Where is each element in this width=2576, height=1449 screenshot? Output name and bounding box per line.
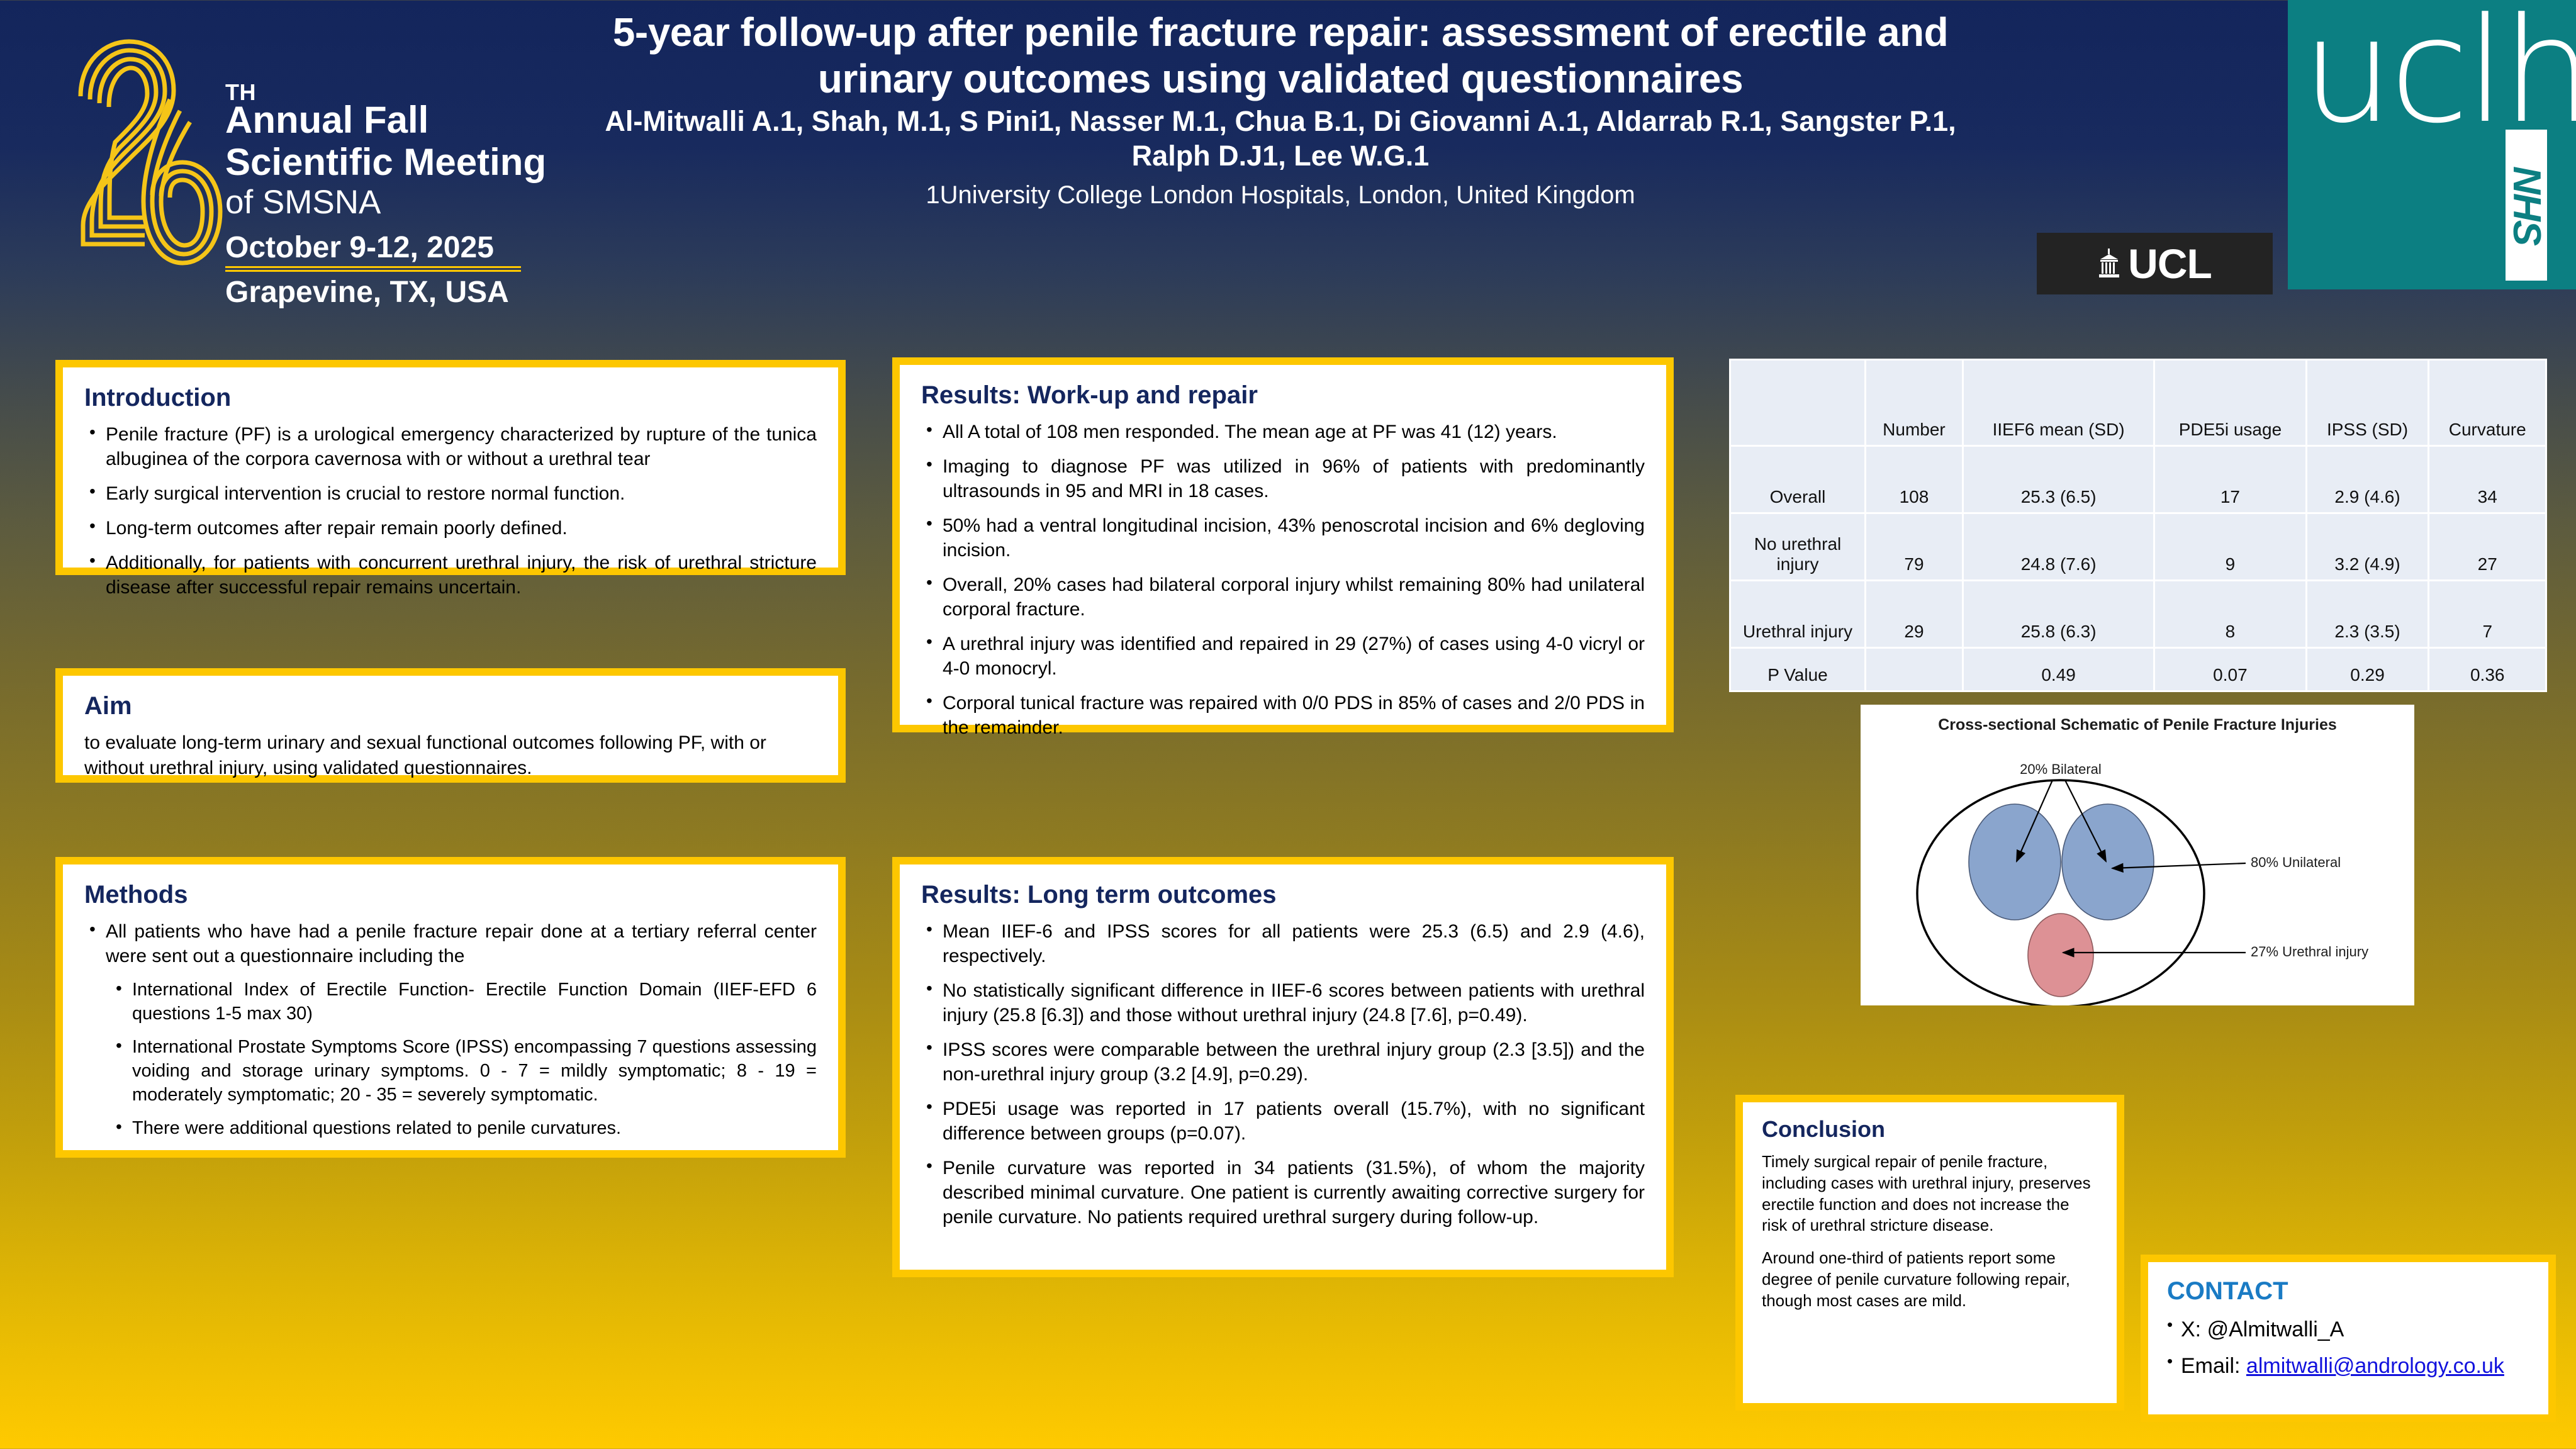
table-cell: 24.8 (7.6): [1963, 513, 2154, 581]
table-cell: 0.49: [1963, 648, 2154, 691]
table-row-label: No urethral injury: [1730, 513, 1866, 581]
table-row: Overall 108 25.3 (6.5) 17 2.9 (4.6) 34: [1730, 446, 2546, 513]
poster-header: TH Annual Fall Scientific Meeting of SMS…: [0, 0, 2576, 330]
introduction-heading: Introduction: [84, 384, 817, 412]
contact-panel: CONTACT X: @Almitwalli_A Email: almitwal…: [2141, 1255, 2556, 1422]
table-cell: 25.8 (6.3): [1963, 581, 2154, 648]
methods-panel: Methods All patients who have had a peni…: [55, 857, 846, 1158]
list-item: Early surgical intervention is crucial t…: [84, 481, 817, 506]
smsna-line-annual-fall: Annual Fall: [225, 98, 428, 142]
table-cell: 0.29: [2306, 648, 2429, 691]
table-row: P Value 0.49 0.07 0.29 0.36: [1730, 648, 2546, 691]
table-header-cell: IPSS (SD): [2306, 360, 2429, 446]
contact-email-row: Email: almitwalli@andrology.co.uk: [2167, 1352, 2529, 1380]
table-header-row: Number IIEF6 mean (SD) PDE5i usage IPSS …: [1730, 360, 2546, 446]
introduction-panel: Introduction Penile fracture (PF) is a u…: [55, 360, 846, 575]
contact-heading: CONTACT: [2167, 1277, 2529, 1306]
smsna-rule-lines: [225, 266, 521, 274]
table-cell: [1866, 648, 1963, 691]
table-row-label: Overall: [1730, 446, 1866, 513]
list-item: PDE5i usage was reported in 17 patients …: [921, 1097, 1645, 1146]
table-cell: 108: [1866, 446, 1963, 513]
table-cell: 27: [2429, 513, 2546, 581]
table-cell: 79: [1866, 513, 1963, 581]
conclusion-heading: Conclusion: [1762, 1116, 2098, 1143]
table-cell: 29: [1866, 581, 1963, 648]
table-cell: 0.07: [2154, 648, 2306, 691]
smsna-conference-logo: TH Annual Fall Scientific Meeting of SMS…: [69, 30, 547, 301]
list-item: Mean IIEF-6 and IPSS scores for all pati…: [921, 919, 1645, 968]
table-cell: 25.3 (6.5): [1963, 446, 2154, 513]
table-cell: 0.36: [2429, 648, 2546, 691]
methods-bullet-list: All patients who have had a penile fract…: [84, 919, 817, 1141]
table-header-cell: PDE5i usage: [2154, 360, 2306, 446]
penile-cross-section-diagram: 20% Bilateral 80% Unilateral 27% Urethra…: [1861, 705, 2414, 1005]
list-item: IPSS scores were comparable between the …: [921, 1038, 1645, 1087]
list-item: Long-term outcomes after repair remain p…: [84, 516, 817, 540]
list-item: International Prostate Symptoms Score (I…: [111, 1036, 817, 1107]
results-summary-table: Number IIEF6 mean (SD) PDE5i usage IPSS …: [1729, 359, 2547, 692]
ucl-crest-icon: [2098, 249, 2120, 279]
conclusion-paragraph-2: Around one-third of patients report some…: [1762, 1248, 2098, 1311]
list-item: Penile curvature was reported in 34 pati…: [921, 1156, 1645, 1229]
list-item: A urethral injury was identified and rep…: [921, 632, 1645, 681]
table-header-cell: [1730, 360, 1866, 446]
uclh-logo: uclh NHS: [2288, 0, 2576, 289]
list-item: Imaging to diagnose PF was utilized in 9…: [921, 454, 1645, 503]
conference-dates: October 9-12, 2025: [225, 230, 521, 265]
results-workup-panel: Results: Work-up and repair All A total …: [892, 357, 1674, 732]
contact-list: X: @Almitwalli_A Email: almitwalli@andro…: [2167, 1316, 2529, 1380]
affiliation-line: 1University College London Hospitals, Lo…: [579, 181, 1982, 210]
list-item: All patients who have had a penile fract…: [84, 919, 817, 968]
nhs-logo: NHS: [2506, 130, 2547, 281]
nhs-wordmark: NHS: [2504, 166, 2549, 245]
smsna-line-scientific-meeting: Scientific Meeting: [225, 140, 546, 184]
table-cell: 7: [2429, 581, 2546, 648]
author-list: Al-Mitwalli A.1, Shah, M.1, S Pini1, Nas…: [579, 104, 1982, 174]
list-item: Additionally, for patients with concurre…: [84, 551, 817, 600]
list-item: No statistically significant difference …: [921, 978, 1645, 1027]
cross-section-diagram-card: Cross-sectional Schematic of Penile Frac…: [1861, 705, 2414, 1005]
table-header-cell: IIEF6 mean (SD): [1963, 360, 2154, 446]
conference-location: Grapevine, TX, USA: [225, 275, 521, 310]
table-row-label: Urethral injury: [1730, 581, 1866, 648]
title-block: 5-year follow-up after penile fracture r…: [579, 9, 1982, 210]
ucl-wordmark: UCL: [2128, 240, 2212, 288]
table-cell: 34: [2429, 446, 2546, 513]
conclusion-panel: Conclusion Timely surgical repair of pen…: [1735, 1095, 2124, 1411]
ucl-logo: UCL: [2037, 233, 2273, 294]
list-item: Penile fracture (PF) is a urological eme…: [84, 422, 817, 471]
smsna-line-of-smsna: of SMSNA: [225, 183, 381, 221]
table-row: No urethral injury 79 24.8 (7.6) 9 3.2 (…: [1730, 513, 2546, 581]
table-row-label: P Value: [1730, 648, 1866, 691]
table-cell: 2.9 (4.6): [2306, 446, 2429, 513]
results-longterm-bullet-list: Mean IIEF-6 and IPSS scores for all pati…: [921, 919, 1645, 1229]
list-item: Overall, 20% cases had bilateral corpora…: [921, 573, 1645, 622]
contact-x-handle: X: @Almitwalli_A: [2167, 1316, 2529, 1343]
table-cell: 17: [2154, 446, 2306, 513]
diagram-label-urethral: 27% Urethral injury: [2251, 944, 2368, 959]
methods-heading: Methods: [84, 881, 817, 909]
diagram-label-bilateral: 20% Bilateral: [2020, 761, 2102, 777]
results-longterm-heading: Results: Long term outcomes: [921, 881, 1645, 909]
results-workup-bullet-list: All A total of 108 men responded. The me…: [921, 420, 1645, 740]
table-cell: 3.2 (4.9): [2306, 513, 2429, 581]
table-row: Urethral injury 29 25.8 (6.3) 8 2.3 (3.5…: [1730, 581, 2546, 648]
introduction-bullet-list: Penile fracture (PF) is a urological eme…: [84, 422, 817, 600]
table-cell: 2.3 (3.5): [2306, 581, 2429, 648]
list-item: There were additional questions related …: [111, 1117, 817, 1141]
smsna-26-mark: [69, 30, 227, 276]
aim-text: to evaluate long-term urinary and sexual…: [84, 730, 817, 780]
page-title: 5-year follow-up after penile fracture r…: [579, 9, 1982, 102]
aim-panel: Aim to evaluate long-term urinary and se…: [55, 668, 846, 783]
aim-heading: Aim: [84, 692, 817, 720]
table-cell: 9: [2154, 513, 2306, 581]
list-item: Corporal tunical fracture was repaired w…: [921, 691, 1645, 740]
list-item: All A total of 108 men responded. The me…: [921, 420, 1645, 444]
list-item: 50% had a ventral longitudinal incision,…: [921, 513, 1645, 562]
contact-email-link[interactable]: almitwalli@andrology.co.uk: [2246, 1354, 2504, 1378]
smsna-date-location: October 9-12, 2025 Grapevine, TX, USA: [225, 230, 521, 310]
list-item: International Index of Erectile Function…: [111, 978, 817, 1026]
table-header-cell: Number: [1866, 360, 1963, 446]
results-longterm-panel: Results: Long term outcomes Mean IIEF-6 …: [892, 857, 1674, 1277]
conclusion-paragraph-1: Timely surgical repair of penile fractur…: [1762, 1151, 2098, 1236]
table-cell: 8: [2154, 581, 2306, 648]
table-header-cell: Curvature: [2429, 360, 2546, 446]
diagram-label-unilateral: 80% Unilateral: [2251, 854, 2341, 870]
contact-email-label: Email:: [2181, 1354, 2246, 1378]
results-workup-heading: Results: Work-up and repair: [921, 381, 1645, 410]
